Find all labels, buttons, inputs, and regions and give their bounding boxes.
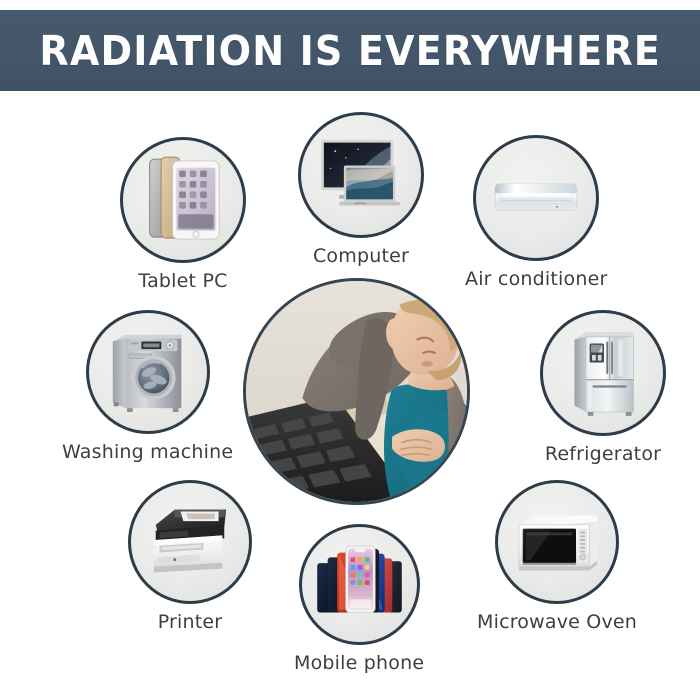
item-label-printer: Printer <box>158 611 223 633</box>
printer-bubble[interactable] <box>128 480 252 604</box>
item-label-tablet: Tablet PC <box>138 270 227 292</box>
item-washing-machine[interactable]: Washing machine <box>62 310 233 463</box>
computer-icon <box>301 115 421 235</box>
item-tablet[interactable]: Tablet PC <box>120 137 246 292</box>
page-title: RADIATION IS EVERYWHERE <box>39 27 661 75</box>
mobile-phone-icon <box>302 527 417 642</box>
washing-machine-bubble[interactable] <box>86 310 210 434</box>
item-air-conditioner[interactable]: Air conditioner <box>465 135 607 290</box>
refrigerator-icon <box>543 313 663 433</box>
item-label-computer: Computer <box>313 245 409 267</box>
item-label-washing-machine: Washing machine <box>62 441 233 463</box>
item-label-refrigerator: Refrigerator <box>545 443 661 465</box>
microwave-icon <box>498 483 616 601</box>
header-banner: RADIATION IS EVERYWHERE <box>0 10 700 91</box>
item-computer[interactable]: Computer <box>298 112 424 267</box>
item-refrigerator[interactable]: Refrigerator <box>540 310 666 465</box>
tablet-icon <box>123 140 243 260</box>
center-hero-image <box>243 278 470 505</box>
mobile-phone-bubble[interactable] <box>299 524 420 645</box>
item-label-mobile-phone: Mobile phone <box>294 652 424 674</box>
air-conditioner-bubble[interactable] <box>473 135 599 261</box>
air-conditioner-icon <box>476 138 596 258</box>
infographic-canvas: RADIATION IS EVERYWHERE <box>0 0 700 700</box>
pregnant-woman-at-computer-illustration <box>246 281 467 502</box>
refrigerator-bubble[interactable] <box>540 310 666 436</box>
tablet-bubble[interactable] <box>120 137 246 263</box>
item-microwave-oven[interactable]: Microwave Oven <box>477 480 637 633</box>
printer-icon <box>131 483 249 601</box>
item-label-microwave-oven: Microwave Oven <box>477 611 637 633</box>
microwave-bubble[interactable] <box>495 480 619 604</box>
item-printer[interactable]: Printer <box>128 480 252 633</box>
computer-bubble[interactable] <box>298 112 424 238</box>
item-mobile-phone[interactable]: Mobile phone <box>294 524 424 674</box>
item-label-air-conditioner: Air conditioner <box>465 268 607 290</box>
washing-machine-icon <box>89 313 207 431</box>
